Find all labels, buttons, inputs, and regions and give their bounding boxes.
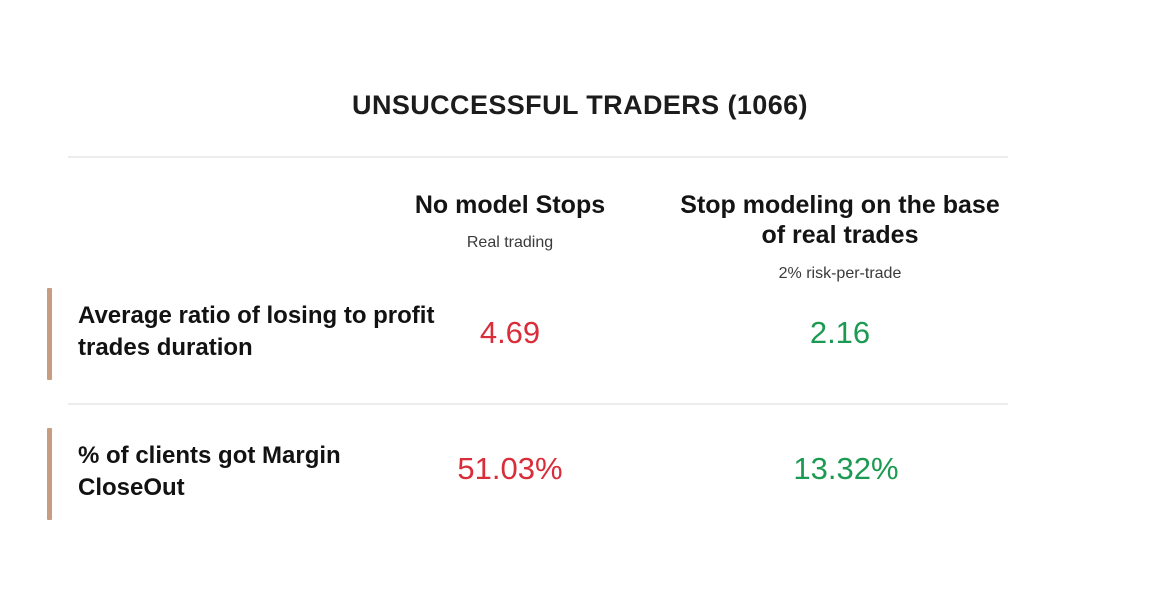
value-avg-ratio-no-model-stops: 4.69 <box>370 317 650 348</box>
divider-row <box>68 403 1008 405</box>
column-header-title: Stop modeling on the base of real trades <box>670 190 1010 250</box>
column-header-title: No model Stops <box>370 190 650 220</box>
row-accent-bar <box>47 428 52 520</box>
column-header-subtitle: Real trading <box>370 234 650 252</box>
page-title: UNSUCCESSFUL TRADERS (1066) <box>0 90 1160 121</box>
row-accent-bar <box>47 288 52 380</box>
column-header-subtitle: 2% risk-per-trade <box>670 265 1010 283</box>
value-margin-closeout-stop-modeling: 13.32% <box>706 453 986 484</box>
slide-root: UNSUCCESSFUL TRADERS (1066) No model Sto… <box>0 0 1160 589</box>
value-avg-ratio-stop-modeling: 2.16 <box>700 317 980 348</box>
column-header-stop-modeling: Stop modeling on the base of real trades… <box>670 190 1010 283</box>
divider-header <box>68 156 1008 158</box>
column-header-no-model-stops: No model Stops Real trading <box>370 190 650 252</box>
value-margin-closeout-no-model-stops: 51.03% <box>370 453 650 484</box>
